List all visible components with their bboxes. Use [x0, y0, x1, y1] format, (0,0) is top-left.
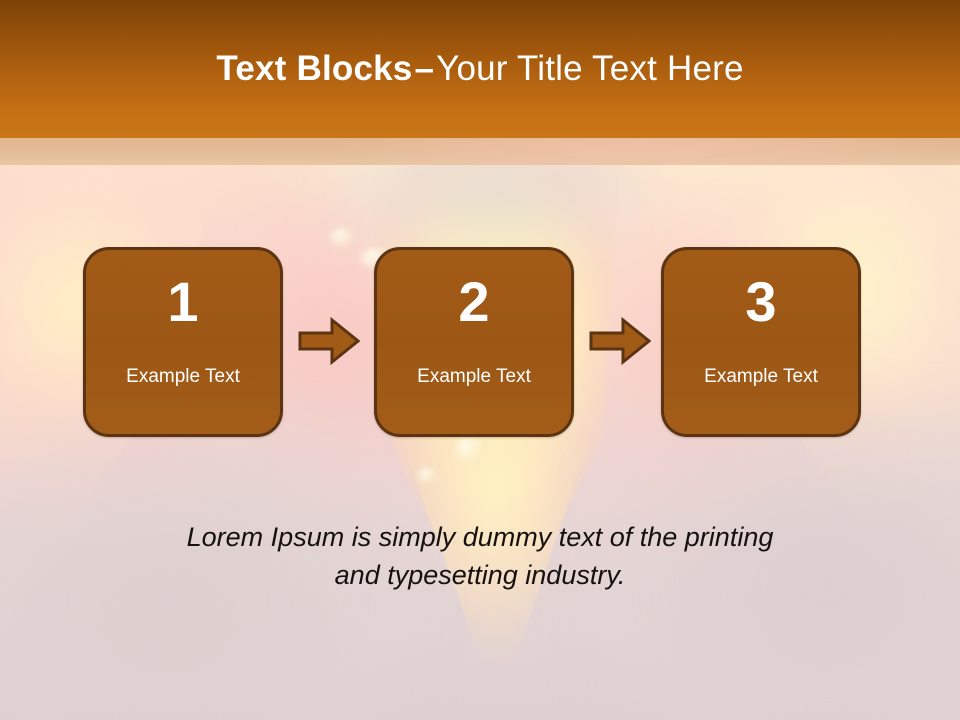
step-number: 3 — [664, 274, 858, 330]
step-label: Example Text — [86, 367, 280, 388]
arrow-right-icon — [298, 317, 360, 365]
slide: Text Blocks – Your Title Text Here 1 Exa… — [0, 0, 960, 720]
steps-row: 1 Example Text 2 Example Text 3 Example … — [0, 0, 960, 720]
step-box-3[interactable]: 3 Example Text — [661, 247, 861, 437]
caption-text: Lorem Ipsum is simply dummy text of the … — [120, 518, 840, 595]
caption-line-2: and typesetting industry. — [120, 556, 840, 594]
step-box-1[interactable]: 1 Example Text — [83, 247, 283, 437]
arrow-right-icon — [589, 317, 651, 365]
step-number: 1 — [86, 274, 280, 330]
step-label: Example Text — [377, 367, 571, 388]
caption-line-1: Lorem Ipsum is simply dummy text of the … — [120, 518, 840, 556]
step-number: 2 — [377, 274, 571, 330]
step-box-2[interactable]: 2 Example Text — [374, 247, 574, 437]
step-label: Example Text — [664, 367, 858, 388]
